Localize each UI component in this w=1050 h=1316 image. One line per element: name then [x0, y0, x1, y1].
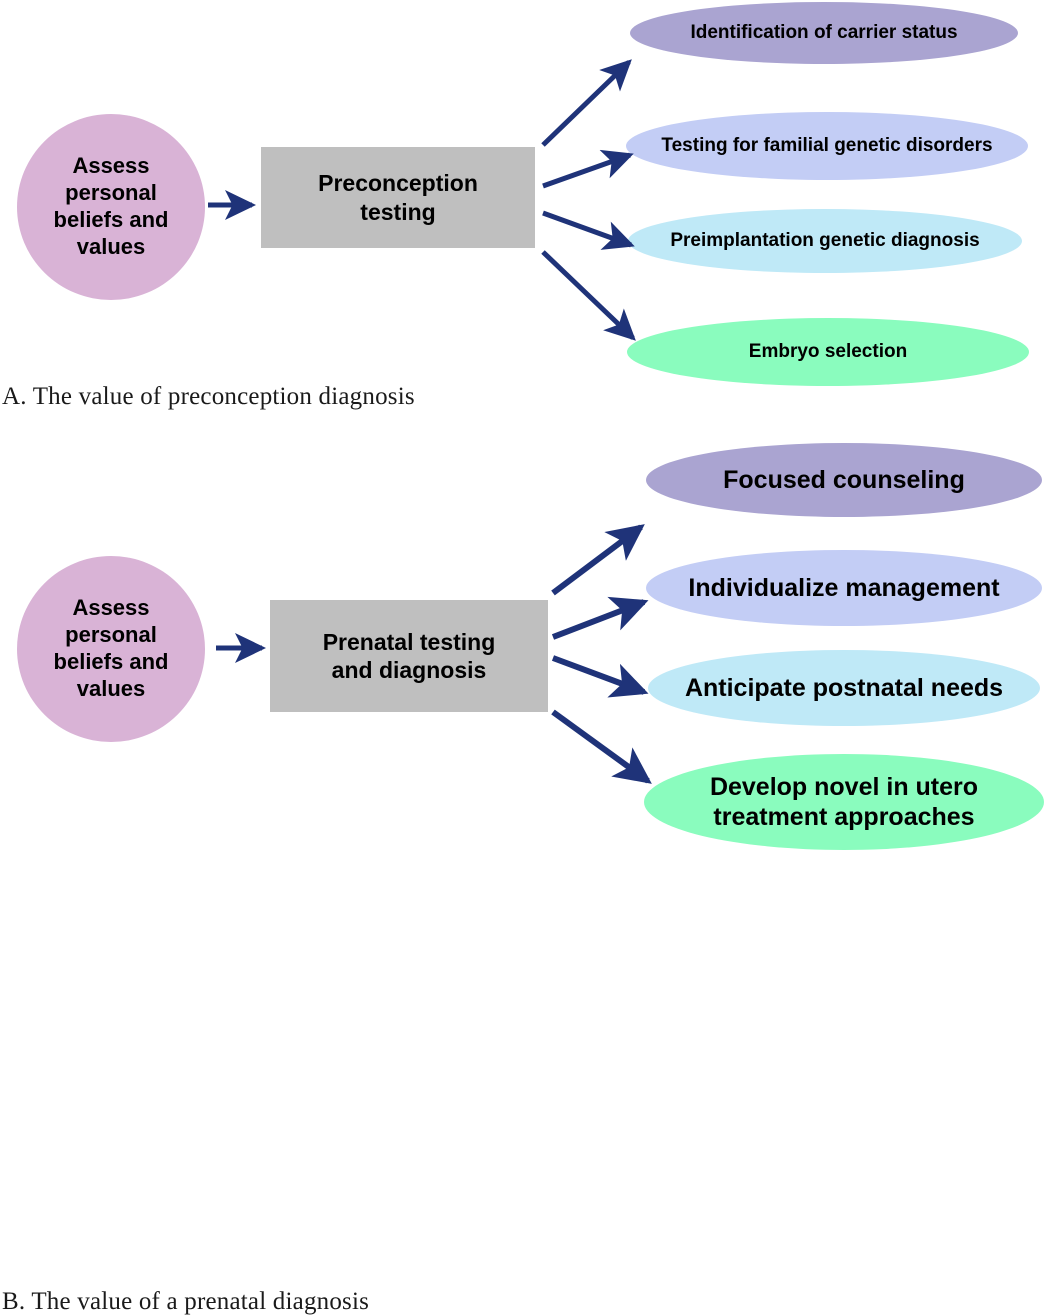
- outcome-ellipse-4: [644, 754, 1044, 850]
- arrow-box-to-outcome-2: [553, 602, 644, 637]
- preconception-testing-box: [261, 147, 535, 248]
- outcome-ellipse-2: [646, 550, 1042, 626]
- arrow-box-to-outcome-3: [553, 658, 644, 692]
- panel-b-prenatal: Assess personal beliefs and values Prena…: [0, 430, 1050, 894]
- assess-beliefs-circle: [17, 114, 205, 300]
- arrow-box-to-outcome-4: [543, 252, 633, 338]
- outcome-ellipse-4: [627, 318, 1029, 386]
- outcome-ellipse-3: [628, 209, 1022, 273]
- panel-a-caption: A. The value of preconception diagnosis: [2, 383, 415, 411]
- arrow-box-to-outcome-2: [543, 155, 630, 186]
- panel-b-graphics: [0, 430, 1050, 894]
- outcome-ellipse-2: [626, 112, 1028, 180]
- arrow-box-to-outcome-1: [553, 527, 641, 593]
- prenatal-testing-box: [270, 600, 548, 712]
- panel-a-preconception: Assess personal beliefs and values Preco…: [0, 0, 1050, 430]
- arrow-box-to-outcome-4: [553, 712, 648, 781]
- outcome-ellipse-1: [646, 443, 1042, 517]
- panel-a-graphics: [0, 0, 1050, 430]
- arrow-box-to-outcome-3: [543, 213, 631, 245]
- panel-b-caption: B. The value of a prenatal diagnosis: [2, 1288, 369, 1316]
- assess-beliefs-circle: [17, 556, 205, 742]
- arrow-box-to-outcome-1: [543, 62, 629, 145]
- outcome-ellipse-1: [630, 2, 1018, 64]
- outcome-ellipse-3: [648, 650, 1040, 726]
